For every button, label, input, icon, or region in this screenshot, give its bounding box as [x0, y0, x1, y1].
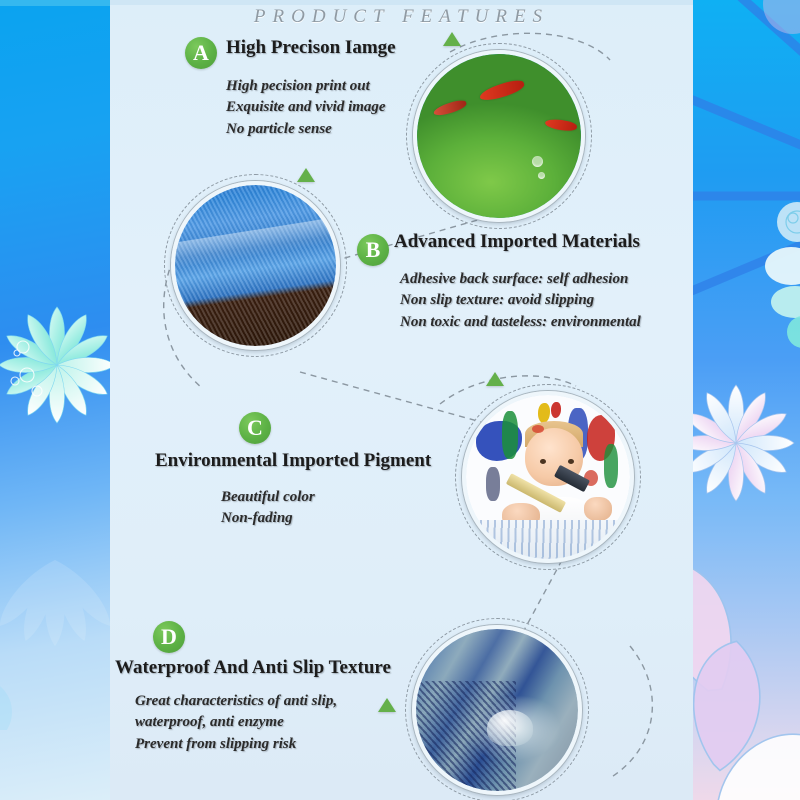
heading-a: High Precison Iamge — [226, 37, 396, 59]
bullets-d: Great characteristics of anti slip, wate… — [135, 691, 337, 755]
right-large-petals-ornament — [693, 530, 800, 800]
heading-c: Environmental Imported Pigment — [155, 450, 431, 472]
bullets-b: Adhesive back surface: self adhesion Non… — [400, 269, 641, 333]
bullet-a-1: High pecision print out — [226, 76, 386, 97]
blue-fabric-image — [175, 185, 336, 346]
badge-d: D — [153, 621, 185, 653]
arrow-c-icon — [486, 372, 504, 386]
waterproof-texture-image — [416, 629, 578, 791]
photo-circle-b — [171, 181, 340, 350]
right-decorative-border — [693, 0, 800, 800]
arrow-d-icon — [378, 698, 396, 712]
bullets-c: Beautiful color Non-fading — [221, 487, 315, 530]
photo-circle-a — [413, 50, 585, 222]
bullet-c-2: Non-fading — [221, 508, 315, 529]
bullet-b-1: Adhesive back surface: self adhesion — [400, 269, 641, 290]
bullet-b-3: Non toxic and tasteless: environmental — [400, 312, 641, 333]
left-flower-ornament-icon — [0, 290, 110, 440]
koi-pond-image — [417, 54, 581, 218]
baby-painting-image — [466, 395, 630, 559]
bullet-a-2: Exquisite and vivid image — [226, 97, 386, 118]
heading-b: Advanced Imported Materials — [394, 231, 640, 253]
left-watermark-flower-icon — [0, 540, 110, 730]
bullet-d-1: Great characteristics of anti slip, — [135, 691, 337, 712]
badge-a: A — [185, 37, 217, 69]
arrow-a-icon — [443, 32, 461, 46]
bullet-b-2: Non slip texture: avoid slipping — [400, 290, 641, 311]
right-flower-ornament-icon — [693, 368, 800, 518]
product-features-poster: PRODUCT FEATURES A High Precison Iamge H… — [0, 0, 800, 800]
photo-circle-d — [412, 625, 582, 795]
left-border-top-band — [0, 0, 110, 6]
connector-arc-d — [610, 646, 652, 778]
bullet-d-2: waterproof, anti enzyme — [135, 712, 337, 733]
bullet-a-3: No particle sense — [226, 119, 386, 140]
content-panel: PRODUCT FEATURES A High Precison Iamge H… — [110, 0, 693, 800]
arrow-b-icon — [297, 168, 315, 182]
bullets-a: High pecision print out Exquisite and vi… — [226, 76, 386, 140]
bullet-c-1: Beautiful color — [221, 487, 315, 508]
heading-d: Waterproof And Anti Slip Texture — [115, 657, 391, 679]
right-top-bubble-ornament — [739, 0, 800, 56]
badge-b: B — [357, 234, 389, 266]
badge-c: C — [239, 412, 271, 444]
photo-circle-c — [462, 391, 634, 563]
left-decorative-border — [0, 0, 110, 800]
bullet-d-3: Prevent from slipping risk — [135, 734, 337, 755]
right-bulb-ornament — [749, 200, 800, 380]
